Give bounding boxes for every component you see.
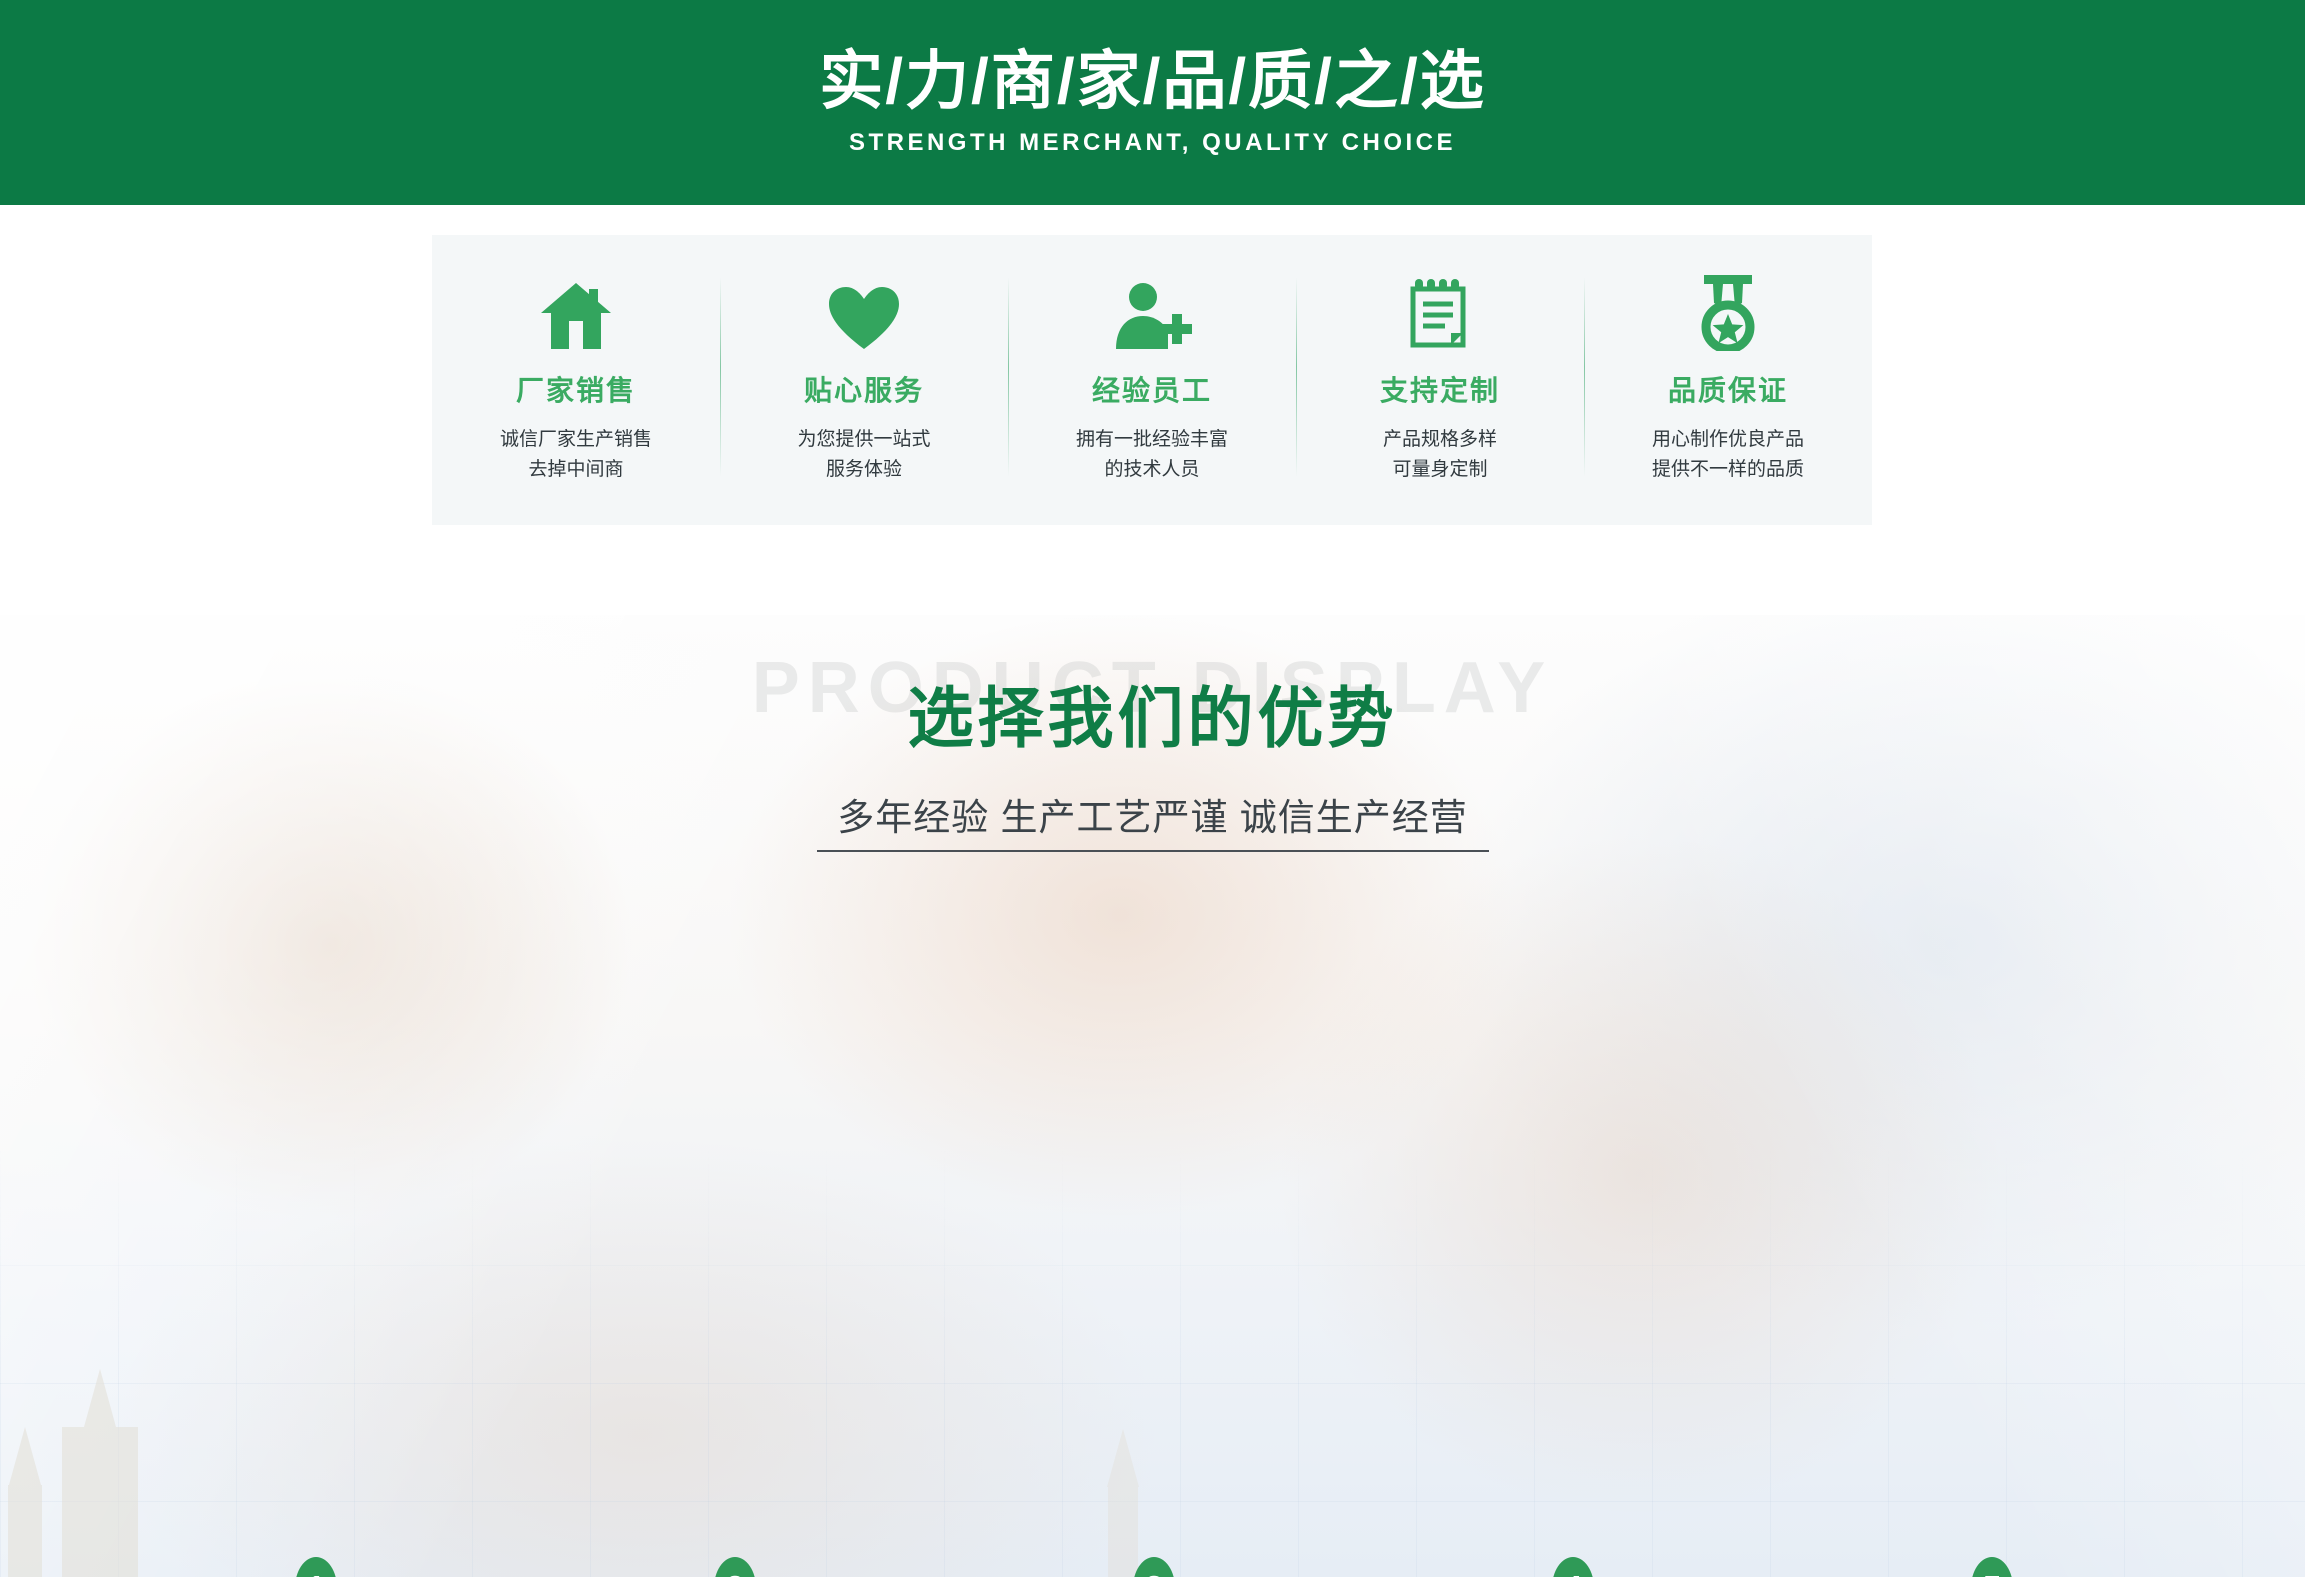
feature-desc-line1: 产品规格多样: [1383, 425, 1497, 455]
feature-desc: 拥有一批经验丰富 的技术人员: [1076, 425, 1228, 486]
banner-subtitle: STRENGTH MERCHANT, QUALITY CHOICE: [849, 129, 1456, 157]
feature-item-experienced-staff[interactable]: 经验员工 拥有一批经验丰富 的技术人员: [1008, 235, 1296, 525]
feature-title: 品质保证: [1668, 369, 1788, 409]
feature-desc-line2: 提供不一样的品质: [1652, 455, 1804, 485]
feature-desc-line2: 可量身定制: [1383, 455, 1497, 485]
feature-strip: 厂家销售 诚信厂家生产销售 去掉中间商 贴心服务 为您提供一站式 服务体验: [0, 205, 2305, 615]
advantage-subtitle: 多年经验 生产工艺严谨 诚信生产经营: [0, 787, 2305, 841]
feature-desc: 为您提供一站式 服务体验: [797, 425, 930, 486]
advantage-title: 选择我们的优势: [0, 665, 2305, 761]
advantage-section: PRODUCT DISPLAY 选择我们的优势 多年经验 生产工艺严谨 诚信生产…: [0, 615, 2305, 1577]
feature-desc-line1: 用心制作优良产品: [1652, 425, 1804, 455]
building-silhouette-icon: [8, 1485, 42, 1577]
building-silhouette-icon: [62, 1427, 138, 1577]
feature-desc-line1: 为您提供一站式: [797, 425, 930, 455]
feature-desc: 诚信厂家生产销售 去掉中间商: [500, 425, 652, 486]
building-silhouette-icon: [1108, 1487, 1138, 1577]
feature-desc-line2: 服务体验: [797, 455, 930, 485]
feature-item-quality-guarantee[interactable]: 品质保证 用心制作优良产品 提供不一样的品质: [1584, 235, 1872, 525]
feature-title: 经验员工: [1092, 369, 1212, 409]
feature-title: 支持定制: [1380, 369, 1500, 409]
background-grid-texture: [0, 1147, 2305, 1577]
banner-title: 实/力/商/家/品/质/之/选: [819, 48, 1485, 115]
advantage-heading: PRODUCT DISPLAY 选择我们的优势 多年经验 生产工艺严谨 诚信生产…: [0, 665, 2305, 841]
user-plus-icon: [1112, 273, 1192, 351]
feature-desc-line2: 的技术人员: [1076, 455, 1228, 485]
feature-desc-line1: 诚信厂家生产销售: [500, 425, 652, 455]
medal-icon: [1694, 273, 1762, 351]
feature-desc-line1: 拥有一批经验丰富: [1076, 425, 1228, 455]
notepad-icon: [1409, 273, 1471, 351]
feature-item-factory-sales[interactable]: 厂家销售 诚信厂家生产销售 去掉中间商: [432, 235, 720, 525]
heart-icon: [827, 273, 901, 351]
feature-desc: 产品规格多样 可量身定制: [1383, 425, 1497, 486]
feature-title: 贴心服务: [804, 369, 924, 409]
feature-desc: 用心制作优良产品 提供不一样的品质: [1652, 425, 1804, 486]
feature-desc-line2: 去掉中间商: [500, 455, 652, 485]
heading-divider: [817, 850, 1489, 852]
feature-item-caring-service[interactable]: 贴心服务 为您提供一站式 服务体验: [720, 235, 1008, 525]
promo-page: 实/力/商/家/品/质/之/选 STRENGTH MERCHANT, QUALI…: [0, 0, 2305, 1577]
feature-title: 厂家销售: [516, 369, 636, 409]
house-icon: [539, 273, 613, 351]
feature-item-customization[interactable]: 支持定制 产品规格多样 可量身定制: [1296, 235, 1584, 525]
feature-panel: 厂家销售 诚信厂家生产销售 去掉中间商 贴心服务 为您提供一站式 服务体验: [432, 235, 1872, 525]
page-banner: 实/力/商/家/品/质/之/选 STRENGTH MERCHANT, QUALI…: [0, 0, 2305, 205]
